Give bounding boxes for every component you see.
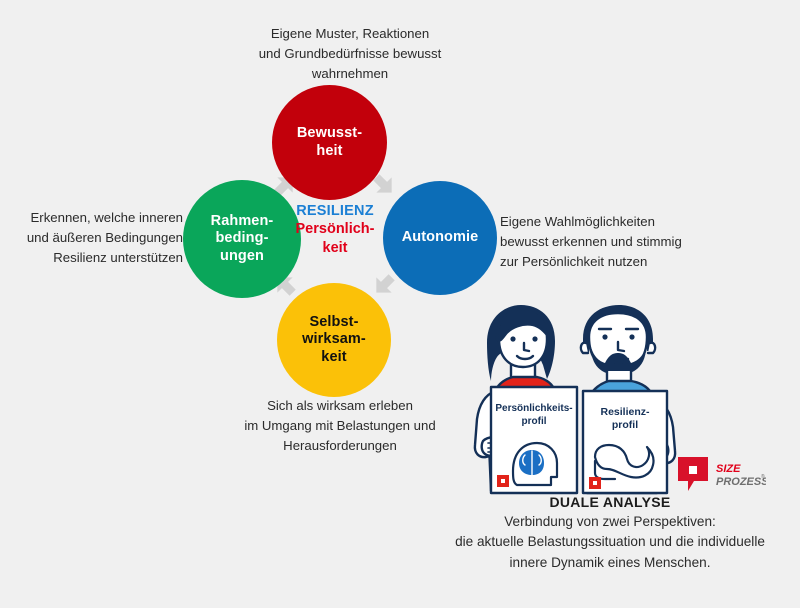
- circle-autonomie[interactable]: Autonomie: [383, 181, 497, 295]
- logo-word-size: SIZE: [716, 463, 741, 475]
- diagram-canvas: Eigene Muster, Reaktionen und Grundbedür…: [0, 0, 800, 608]
- description-line: Resilienz unterstützen: [8, 248, 183, 268]
- description-line: Herausforderungen: [195, 436, 485, 456]
- center-label-persoenlichkeit-1: Persönlich-: [286, 221, 384, 238]
- circle-label-line: Bewusst-: [297, 125, 362, 142]
- caption-title: DUALE ANALYSE: [420, 494, 800, 510]
- logo-word-prozess: PROZESS: [716, 476, 766, 488]
- description-line: Erkennen, welche inneren: [8, 208, 183, 228]
- description-line: wahrnehmen: [205, 64, 495, 84]
- circle-label-line: ungen: [211, 248, 274, 265]
- caption-line: die aktuelle Belastungssituation und die…: [420, 532, 800, 552]
- caption-line: innere Dynamik eines Menschen.: [420, 553, 800, 573]
- circle-label-line: Autonomie: [402, 229, 479, 246]
- description-selbstwirksamkeit: Sich als wirksam erleben im Umgang mit B…: [195, 396, 485, 456]
- description-line: im Umgang mit Belastungen und: [195, 416, 485, 436]
- center-label-persoenlichkeit-2: keit: [286, 240, 384, 257]
- sheet-title-line1: Persönlichkeits-: [495, 403, 572, 414]
- description-line: und äußeren Bedingungen: [8, 228, 183, 248]
- circle-selbstwirksamkeit[interactable]: Selbst- wirksam- keit: [277, 283, 391, 397]
- description-bewusstheit: Eigene Muster, Reaktionen und Grundbedür…: [205, 24, 495, 84]
- caption-duale-analyse: DUALE ANALYSE Verbindung von zwei Perspe…: [420, 494, 800, 573]
- circle-label-line: wirksam-: [302, 331, 366, 348]
- sheet-title-line2: profil: [612, 419, 638, 431]
- description-line: zur Persönlichkeit nutzen: [500, 252, 725, 272]
- description-line: Eigene Wahlmöglichkeiten: [500, 212, 725, 232]
- caption-line: Verbindung von zwei Perspektiven:: [420, 512, 800, 532]
- size-prozess-logo[interactable]: SIZE PROZESS ®: [676, 455, 766, 495]
- description-line: Eigene Muster, Reaktionen: [205, 24, 495, 44]
- circle-label-line: Rahmen-: [211, 213, 274, 230]
- circle-rahmenbedingungen[interactable]: Rahmen- beding- ungen: [183, 180, 301, 298]
- description-line: Sich als wirksam erleben: [195, 396, 485, 416]
- sheet-title-line2: profil: [522, 416, 547, 427]
- circle-label-line: heit: [297, 143, 362, 160]
- speech-bubble-square-icon: [678, 457, 708, 491]
- center-label: RESILIENZ Persönlich- keit: [286, 203, 384, 257]
- circle-bewusstheit[interactable]: Bewusst- heit: [272, 85, 387, 200]
- description-autonomie: Eigene Wahlmöglichkeiten bewusst erkenne…: [500, 212, 725, 272]
- sheet-title-line1: Resilienz-: [600, 406, 650, 418]
- circle-label-line: beding-: [211, 230, 274, 247]
- circle-label-line: keit: [302, 349, 366, 366]
- illustration-two-people: Persönlichkeits- profil: [455, 295, 695, 500]
- center-label-resilienz: RESILIENZ: [286, 203, 384, 220]
- description-line: und Grundbedürfnisse bewusst: [205, 44, 495, 64]
- description-line: bewusst erkennen und stimmig: [500, 232, 725, 252]
- logo-trademark: ®: [761, 473, 765, 480]
- description-rahmenbedingungen: Erkennen, welche inneren und äußeren Bed…: [8, 208, 183, 268]
- circle-label-line: Selbst-: [302, 314, 366, 331]
